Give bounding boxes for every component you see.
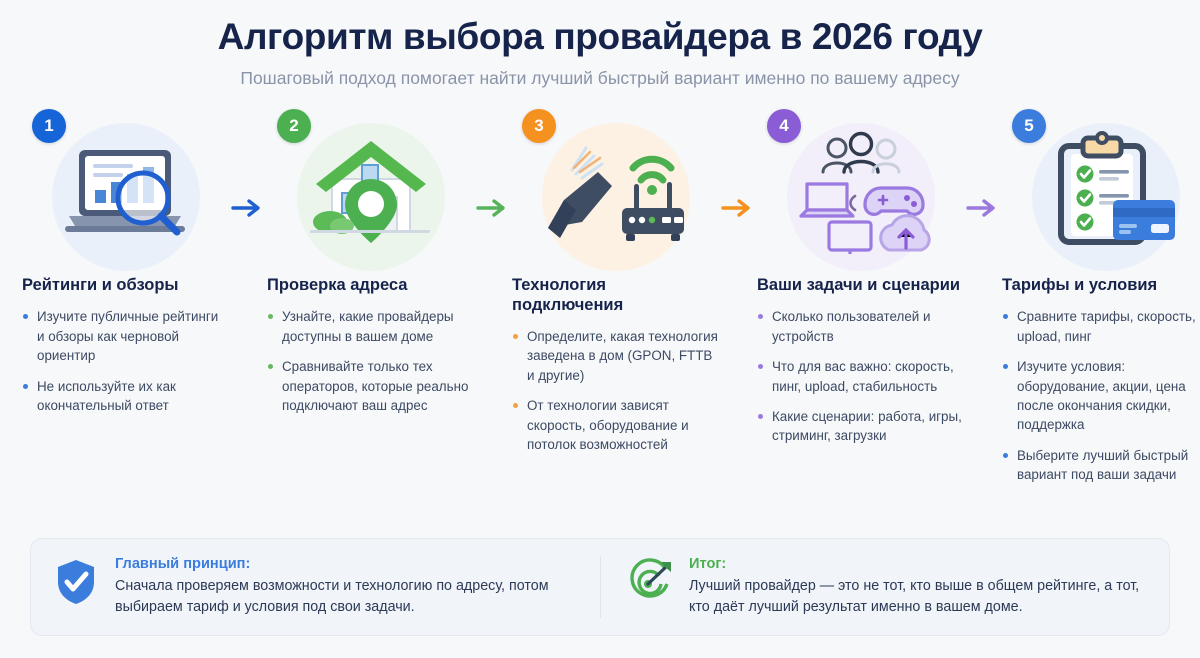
page-subtitle: Пошаговый подход помогает найти лучший б… (22, 68, 1178, 89)
house-location-pin-icon (296, 131, 446, 253)
arrow-step4-to-step5 (964, 197, 1002, 219)
footer-result-block: Итог: Лучший провайдер — это не тот, кто… (600, 556, 1147, 618)
list-item: Сравнивайте только тех операторов, котор… (267, 357, 474, 415)
step-3-technology: 3 (512, 109, 719, 465)
laptop-chart-magnifier-icon (51, 132, 201, 252)
step-3-illustration: 3 (512, 109, 719, 274)
list-item: Изучите публичные рейтинги и обзоры как … (22, 307, 229, 365)
infographic-page: Алгоритм выбора провайдера в 2026 году П… (0, 0, 1200, 658)
step-3-title: Технология подключения (512, 276, 719, 316)
step-2-bullets: Узнайте, какие провайдеры доступны в ваш… (267, 307, 474, 415)
list-item: Сравните тарифы, скорость, upload, пинг (1002, 307, 1200, 346)
footer-principle-block: Главный принцип: Сначала проверяем возмо… (53, 556, 600, 618)
list-item: Какие сценарии: работа, игры, стриминг, … (757, 407, 964, 446)
step-5-title: Тарифы и условия (1002, 276, 1200, 296)
step-4-usage-scenarios: 4 (757, 109, 964, 456)
footer-principle-label: Главный принцип: (115, 556, 600, 572)
arrow-step3-to-step4 (719, 197, 757, 219)
list-item: От технологии зависят скорость, оборудов… (512, 396, 719, 454)
step-1-title: Рейтинги и обзоры (22, 276, 229, 296)
step-5-bullets: Сравните тарифы, скорость, upload, пинг … (1002, 307, 1200, 485)
list-item: Узнайте, какие провайдеры доступны в ваш… (267, 307, 474, 346)
header: Алгоритм выбора провайдера в 2026 году П… (22, 0, 1178, 89)
step-1-ratings: 1 Рейтинги и обзоры Из (22, 109, 229, 426)
step-4-title: Ваши задачи и сценарии (757, 276, 964, 296)
step-5-tariffs: 5 (1002, 109, 1200, 495)
users-devices-icon (785, 130, 937, 254)
step-5-illustration: 5 (1002, 109, 1200, 274)
list-item: Что для вас важно: скорость, пинг, uploa… (757, 357, 964, 396)
steps-row: 1 Рейтинги и обзоры Из (22, 109, 1178, 495)
footer-result-label: Итог: (689, 556, 1147, 572)
list-item: Выберите лучший быстрый вариант под ваши… (1002, 446, 1200, 485)
footer-result-text: Лучший провайдер — это не тот, кто выше … (689, 576, 1147, 618)
step-2-illustration: 2 (267, 109, 474, 274)
page-title: Алгоритм выбора провайдера в 2026 году (22, 16, 1178, 57)
fiber-cable-router-wifi-icon (538, 130, 694, 254)
list-item: Изучите условия: оборудование, акции, це… (1002, 357, 1200, 435)
arrow-step1-to-step2 (229, 197, 267, 219)
target-arrow-icon (627, 556, 673, 606)
footer-principle-text: Сначала проверяем возможности и технолог… (115, 576, 600, 618)
step-3-bullets: Определите, какая технология заведена в … (512, 327, 719, 455)
step-1-illustration: 1 (22, 109, 229, 274)
step-4-bullets: Сколько пользователей и устройств Что дл… (757, 307, 964, 446)
list-item: Не используйте их как окончательный отве… (22, 377, 229, 416)
arrow-step2-to-step3 (474, 197, 512, 219)
list-item: Определите, какая технология заведена в … (512, 327, 719, 385)
step-1-bullets: Изучите публичные рейтинги и обзоры как … (22, 307, 229, 415)
step-4-illustration: 4 (757, 109, 964, 274)
footer-panel: Главный принцип: Сначала проверяем возмо… (30, 538, 1170, 636)
shield-check-icon (53, 556, 99, 606)
step-2-title: Проверка адреса (267, 276, 474, 296)
step-2-address-check: 2 Проверка адреса Узнайте, какие провайд… (267, 109, 474, 426)
clipboard-checklist-card-icon (1031, 130, 1181, 254)
list-item: Сколько пользователей и устройств (757, 307, 964, 346)
